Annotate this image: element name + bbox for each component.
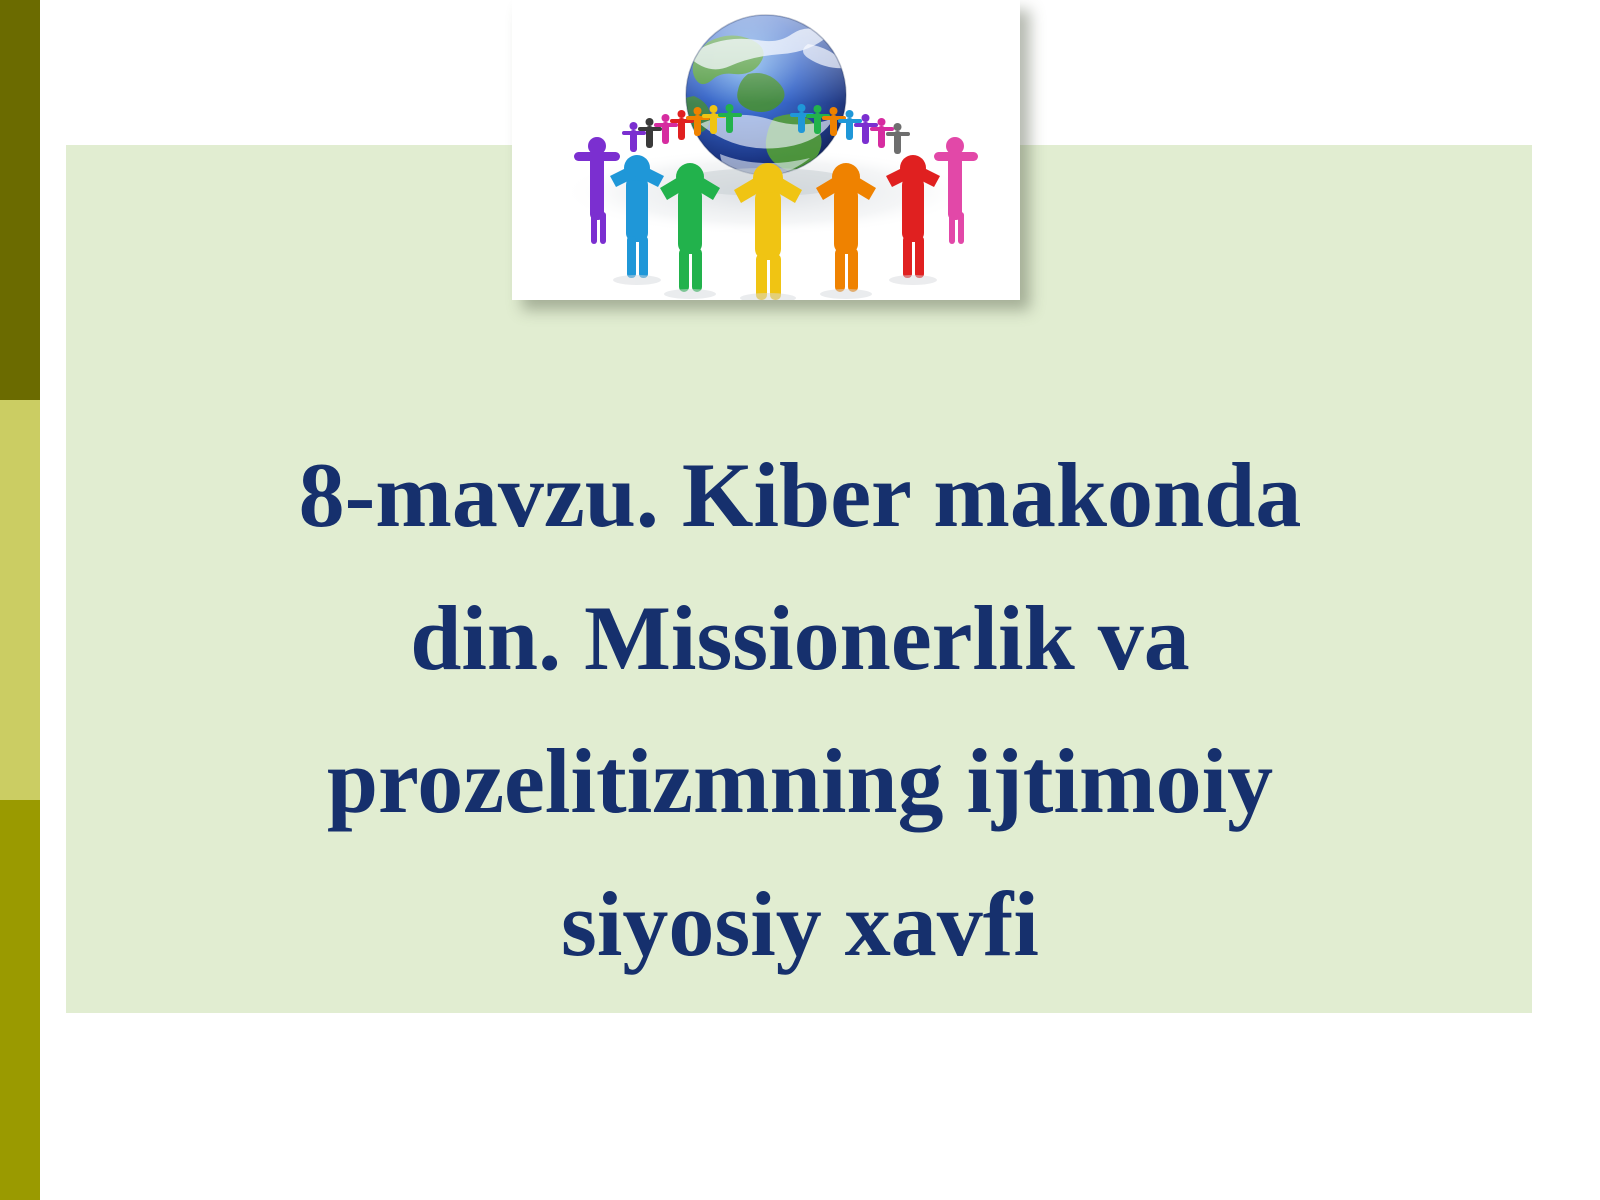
title-line-2: din. Missionerlik va (90, 567, 1510, 710)
globe-people-circle-image (512, 0, 1020, 300)
page-title: 8-mavzu. Kiber makonda din. Missionerlik… (90, 424, 1510, 996)
accent-band-olive-dark (0, 0, 40, 400)
slide-canvas: 8-mavzu. Kiber makonda din. Missionerlik… (0, 0, 1600, 1200)
accent-band-olive-mid (0, 800, 40, 1200)
title-line-3: prozelitizmning ijtimoiy (90, 710, 1510, 853)
accent-band-olive-light (0, 400, 40, 800)
title-line-4: siyosiy xavfi (90, 853, 1510, 996)
title-line-1: 8-mavzu. Kiber makonda (90, 424, 1510, 567)
